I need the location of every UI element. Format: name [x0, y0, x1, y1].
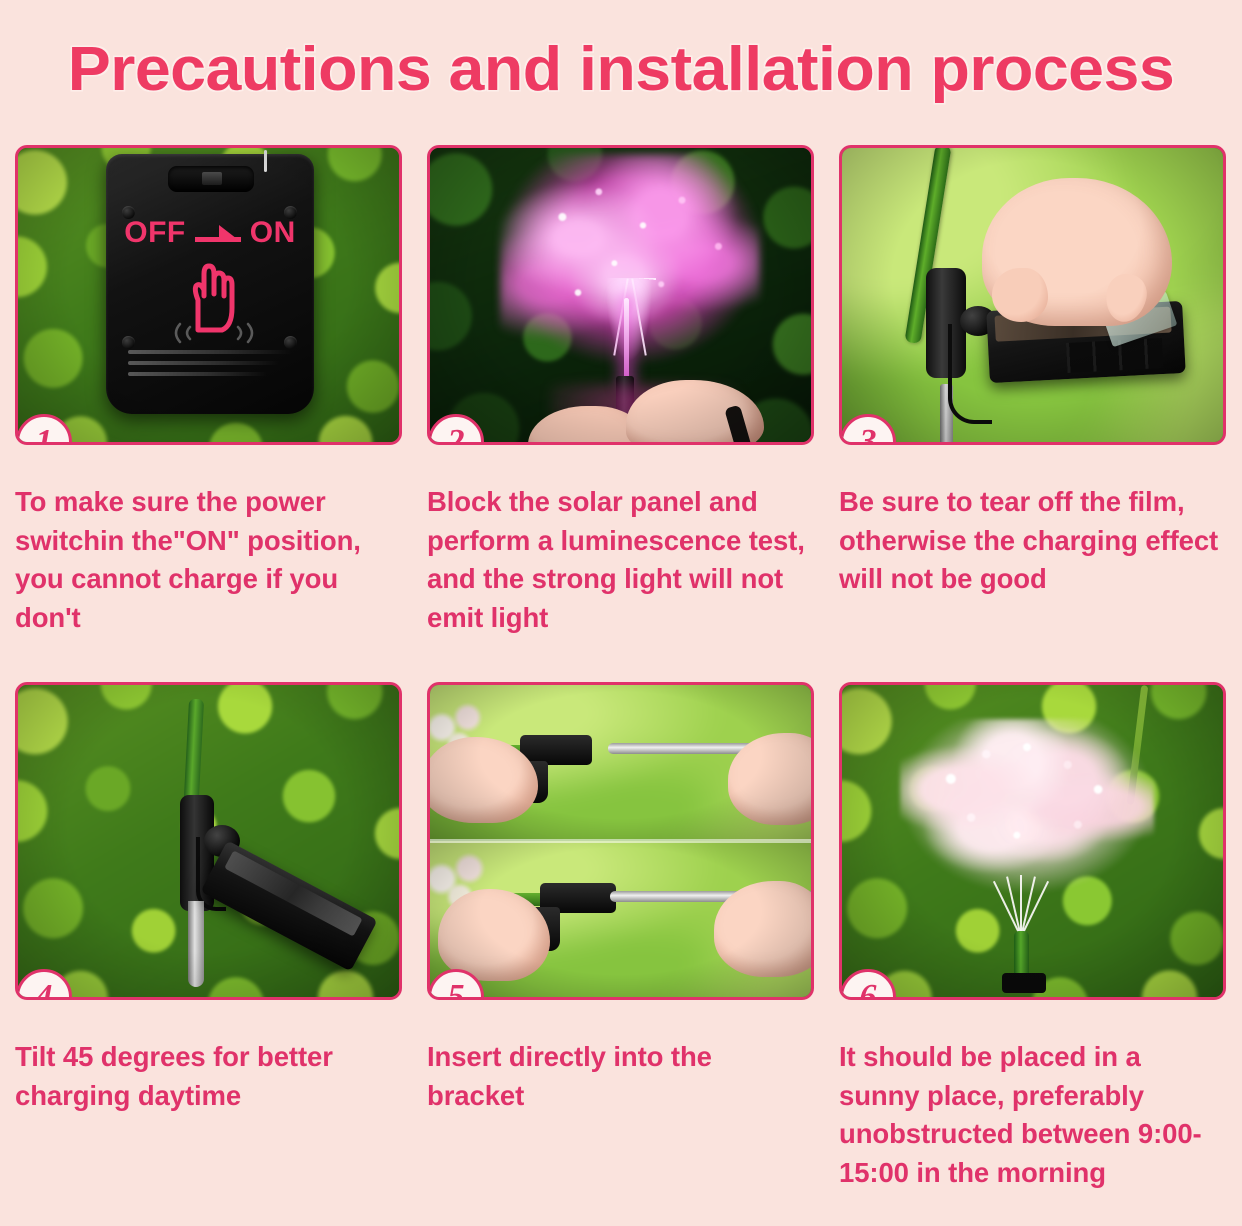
step-card-5: 5 Insert directly into the bracket [427, 682, 814, 1192]
vignette-overlay [430, 685, 811, 841]
steps-grid: OFF ON [15, 145, 1227, 1192]
step-caption-3: Be sure to tear off the film, otherwise … [839, 483, 1226, 599]
step-caption-6: It should be placed in a sunny place, pr… [839, 1038, 1226, 1192]
step-caption-1: To make sure the power switchin the"ON" … [15, 483, 402, 637]
page-title: Precautions and installation process [0, 34, 1242, 105]
photo-divider [430, 839, 811, 843]
step-caption-4: Tilt 45 degrees for better charging dayt… [15, 1038, 402, 1115]
step-image-2: 2 [427, 145, 814, 445]
vignette-overlay [18, 685, 399, 997]
vignette-overlay [18, 148, 399, 442]
insert-step-photo-bottom [430, 841, 811, 997]
steps-row-bottom: 4 Tilt 45 degrees for better charging da… [15, 682, 1227, 1192]
step-card-6: 6 It should be placed in a sunny place, … [839, 682, 1226, 1192]
steps-row-top: OFF ON [15, 145, 1227, 637]
vignette-overlay [842, 685, 1223, 997]
step-image-5: 5 [427, 682, 814, 1000]
step-caption-5: Insert directly into the bracket [427, 1038, 814, 1115]
step-image-3: 3 [839, 145, 1226, 445]
vignette-overlay [842, 148, 1223, 442]
step-image-6: 6 [839, 682, 1226, 1000]
step-card-3: 3 Be sure to tear off the film, otherwis… [839, 145, 1226, 637]
step-card-1: OFF ON [15, 145, 402, 637]
insert-step-photo-top [430, 685, 811, 841]
step-image-1: OFF ON [15, 145, 402, 445]
step-card-2: 2 Block the solar panel and perform a lu… [427, 145, 814, 637]
step-card-4: 4 Tilt 45 degrees for better charging da… [15, 682, 402, 1192]
step-image-4: 4 [15, 682, 402, 1000]
step-caption-2: Block the solar panel and perform a lumi… [427, 483, 814, 637]
vignette-overlay [430, 148, 811, 442]
vignette-overlay [430, 841, 811, 997]
